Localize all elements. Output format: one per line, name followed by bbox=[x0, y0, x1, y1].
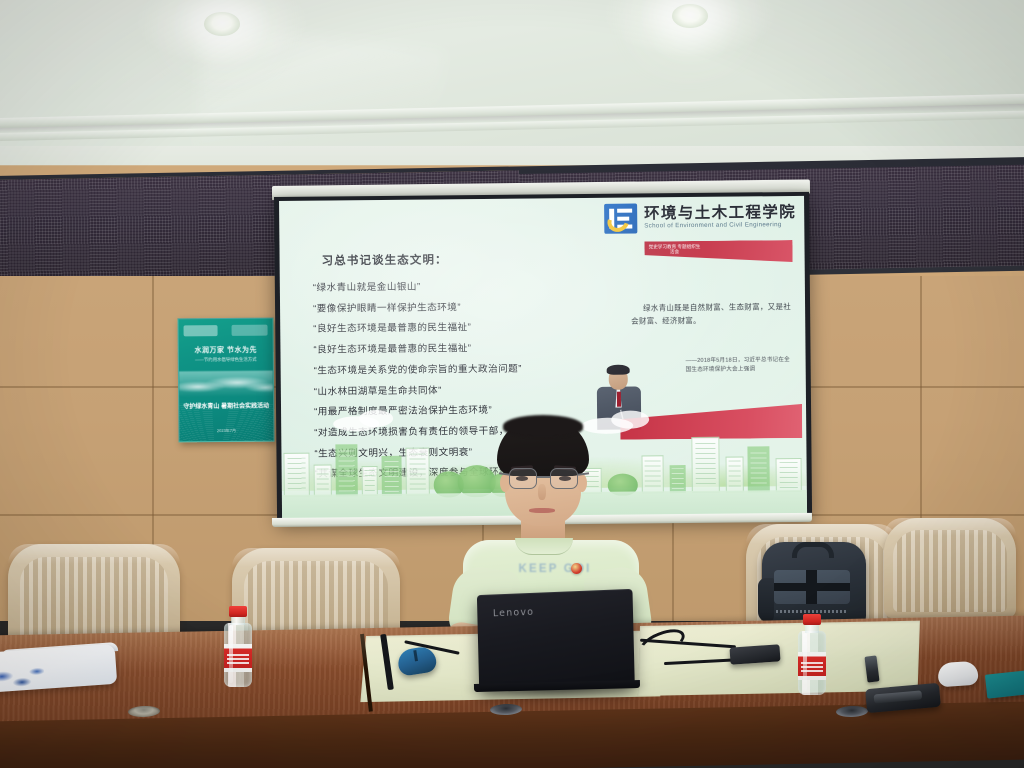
quote-attribution: ——2018年5月18日，习近平总书记在全国生态环境保护大会上强调 bbox=[686, 356, 796, 374]
conference-room-photo: 水润万家 节水为先 ——节约用水倡导绿色生活方式 守护绿水青山 暑期社会实践活动… bbox=[0, 0, 1024, 768]
bottle-cap bbox=[803, 614, 821, 625]
poster-logos bbox=[184, 324, 268, 338]
laptop-lid[interactable]: Lenovo bbox=[477, 589, 635, 690]
water-bottle-left[interactable] bbox=[222, 606, 254, 688]
poster-subtitle: ——节约用水倡导绿色生活方式 bbox=[179, 357, 273, 364]
school-logo-icon bbox=[232, 325, 268, 336]
school-name-block: 环境与土木工程学院 School of Environment and Civi… bbox=[644, 205, 796, 230]
water-bottle-right[interactable] bbox=[796, 614, 828, 700]
shirt-collar bbox=[515, 538, 573, 555]
ece-school-logo-icon: ® bbox=[604, 204, 637, 234]
ceiling-downlight-icon bbox=[672, 4, 708, 28]
power-adapter[interactable] bbox=[729, 644, 780, 664]
ceiling-downlight-icon bbox=[204, 12, 240, 36]
side-quote: 绿水青山既是自然财富、生态财富，又是社会财富、经济财富。 bbox=[631, 300, 791, 328]
eyeglasses-icon bbox=[509, 468, 537, 489]
backpack-handle bbox=[792, 542, 834, 558]
wall-poster: 水润万家 节水为先 ——节约用水倡导绿色生活方式 守护绿水青山 暑期社会实践活动… bbox=[177, 318, 274, 443]
school-name-en: School of Environment and Civil Engineer… bbox=[644, 222, 796, 230]
water-wave-graphic bbox=[179, 371, 273, 398]
teal-notebook[interactable] bbox=[985, 669, 1024, 698]
poster-title: 水润万家 节水为先 bbox=[179, 345, 273, 356]
white-mouse[interactable] bbox=[937, 661, 979, 688]
eyeglasses-icon bbox=[550, 468, 578, 489]
poster-swirl-pattern bbox=[177, 402, 274, 442]
university-logo-icon bbox=[184, 325, 218, 336]
laptop-brand-label: Lenovo bbox=[493, 607, 535, 619]
slide-title: 习总书记谈生态文明： bbox=[322, 251, 448, 268]
slide-header: ® 环境与土木工程学院 School of Environment and Ci… bbox=[604, 202, 796, 234]
shirt-text: KEEP GOI bbox=[503, 563, 607, 575]
party-emblem-badge-icon bbox=[571, 563, 582, 574]
ribbon-text: 党史学习教育 专题组织生活会 bbox=[648, 244, 700, 255]
backpack-zipper bbox=[776, 610, 848, 613]
conference-chair bbox=[884, 518, 1016, 618]
bottle-cap bbox=[229, 606, 247, 617]
school-name-cn: 环境与土木工程学院 bbox=[644, 205, 796, 222]
